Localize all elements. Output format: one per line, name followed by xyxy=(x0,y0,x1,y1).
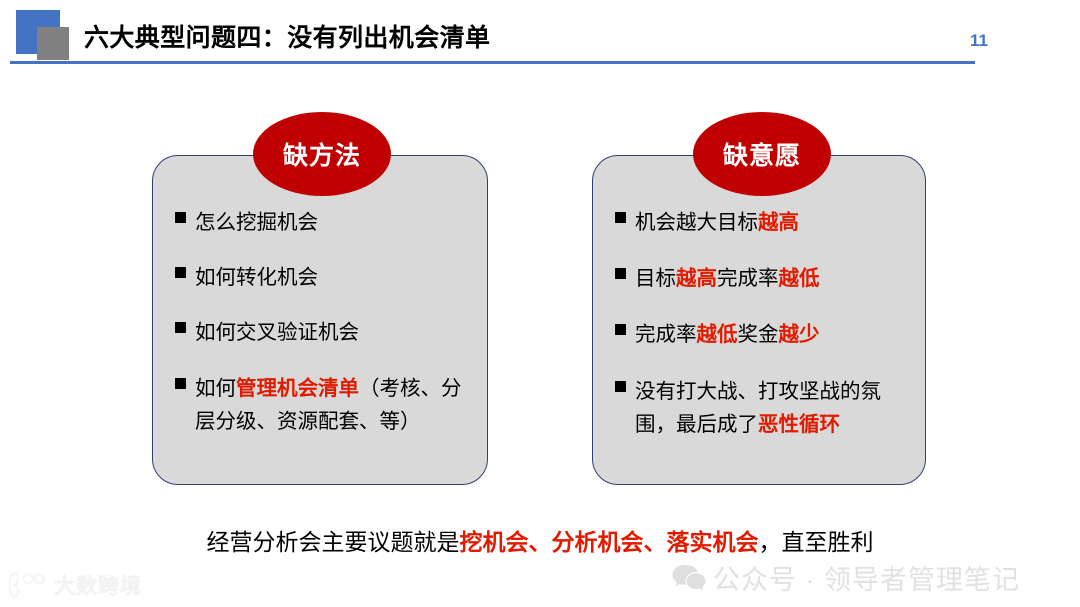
slide-header: 六大典型问题四：没有列出机会清单 11 xyxy=(0,0,1080,72)
list-item-text: 机会越大目标越高 xyxy=(635,206,911,239)
watermark-bottom-right: 公众号 · 领导者管理笔记 xyxy=(672,558,1020,597)
list-item-text: 完成率越低奖金越少 xyxy=(635,318,911,351)
dashujingjing-logo-icon xyxy=(8,572,48,598)
bullet-square-icon xyxy=(175,322,186,333)
watermark-left-text: 大数跨境 xyxy=(54,570,142,600)
list-item-text: 如何管理机会清单（考核、分层分级、资源配套、等） xyxy=(195,372,473,438)
plain-text: 如何 xyxy=(195,377,236,400)
plain-text: 机会越大目标 xyxy=(635,211,758,234)
bullet-square-icon xyxy=(615,324,626,335)
panel-lack-of-willingness: 机会越大目标越高 目标越高完成率越低 完成率越低奖金越少 没有打大战、打攻坚战的… xyxy=(592,155,926,485)
page-number: 11 xyxy=(970,31,988,51)
panel-lack-of-method: 怎么挖掘机会 如何转化机会 如何交叉验证机会 如何管理机会清单（考核、分层分级、… xyxy=(152,155,488,485)
list-item: 完成率越低奖金越少 xyxy=(615,318,911,351)
list-item-text: 目标越高完成率越低 xyxy=(635,262,911,295)
highlighted-text: 恶性循环 xyxy=(758,413,840,436)
plain-text: 奖金 xyxy=(738,323,779,346)
highlighted-text: 越高 xyxy=(758,211,799,234)
list-item: 机会越大目标越高 xyxy=(615,206,911,239)
bullet-square-icon xyxy=(615,268,626,279)
highlighted-text: 越低 xyxy=(779,267,820,290)
badge-lack-of-method: 缺方法 xyxy=(253,112,391,196)
highlighted-text: 挖机会、分析机会、落实机会 xyxy=(460,529,759,555)
list-item-text: 没有打大战、打攻坚战的氛围，最后成了恶性循环 xyxy=(635,375,911,441)
bullet-square-icon xyxy=(175,267,186,278)
bullet-square-icon xyxy=(615,381,626,392)
list-item: 怎么挖掘机会 xyxy=(175,206,473,239)
header-divider xyxy=(10,61,975,64)
plain-text: 经营分析会主要议题就是 xyxy=(207,529,460,555)
plain-text: 怎么挖掘机会 xyxy=(195,211,318,234)
gray-square-icon xyxy=(37,27,69,60)
watermark-right-text: 公众号 · 领导者管理笔记 xyxy=(713,558,1020,597)
highlighted-text: 越少 xyxy=(779,323,820,346)
badge-lack-of-willingness: 缺意愿 xyxy=(693,112,831,196)
watermark-bottom-left: 大数跨境 xyxy=(8,570,142,600)
footer-caption: 经营分析会主要议题就是挖机会、分析机会、落实机会，直至胜利 xyxy=(0,523,1080,557)
plain-text: ，直至胜利 xyxy=(759,529,874,555)
highlighted-text: 越高 xyxy=(676,267,717,290)
list-item-text: 如何交叉验证机会 xyxy=(195,316,473,349)
list-item: 目标越高完成率越低 xyxy=(615,262,911,295)
list-item: 如何管理机会清单（考核、分层分级、资源配套、等） xyxy=(175,372,473,438)
highlighted-text: 管理机会清单 xyxy=(236,377,359,400)
plain-text: 完成率 xyxy=(635,323,697,346)
plain-text: 如何转化机会 xyxy=(195,266,318,289)
list-item-text: 如何转化机会 xyxy=(195,261,473,294)
highlighted-text: 越低 xyxy=(697,323,738,346)
list-item-text: 怎么挖掘机会 xyxy=(195,206,473,239)
bullet-list-left: 怎么挖掘机会 如何转化机会 如何交叉验证机会 如何管理机会清单（考核、分层分级、… xyxy=(153,206,487,460)
plain-text: 完成率 xyxy=(717,267,779,290)
bullet-square-icon xyxy=(175,378,186,389)
plain-text: 如何交叉验证机会 xyxy=(195,321,359,344)
list-item: 如何转化机会 xyxy=(175,261,473,294)
bullet-square-icon xyxy=(615,212,626,223)
wechat-icon xyxy=(672,563,706,593)
bullet-square-icon xyxy=(175,212,186,223)
bullet-list-right: 机会越大目标越高 目标越高完成率越低 完成率越低奖金越少 没有打大战、打攻坚战的… xyxy=(593,206,925,464)
page-title: 六大典型问题四：没有列出机会清单 xyxy=(84,18,490,54)
list-item: 如何交叉验证机会 xyxy=(175,316,473,349)
plain-text: 目标 xyxy=(635,267,676,290)
list-item: 没有打大战、打攻坚战的氛围，最后成了恶性循环 xyxy=(615,375,911,441)
